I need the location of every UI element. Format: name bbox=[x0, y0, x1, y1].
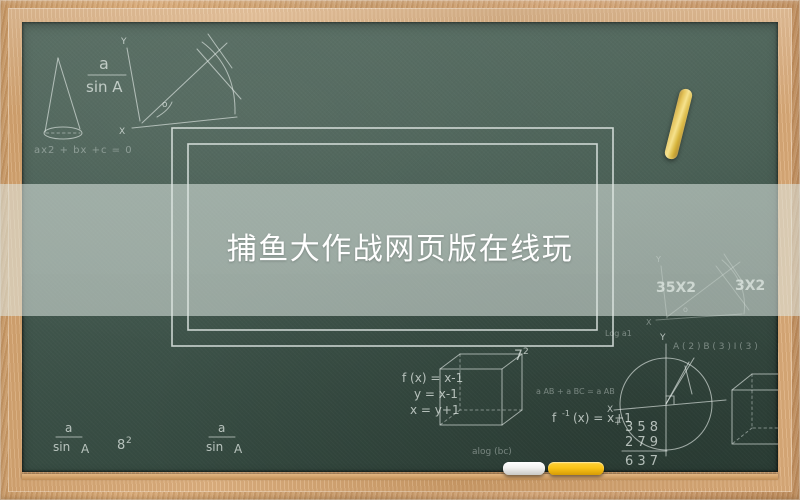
svg-text:A: A bbox=[234, 442, 243, 456]
fraction-a-over-sinA-lower-mid: a sin A bbox=[206, 421, 243, 456]
exponent-eight-sup: 2 bbox=[126, 436, 132, 446]
svg-text:a: a bbox=[218, 421, 225, 435]
log-a1-text: Log a1 bbox=[605, 329, 632, 338]
svg-text:Y: Y bbox=[120, 37, 127, 47]
svg-text:X: X bbox=[119, 127, 125, 137]
svg-text:a: a bbox=[99, 54, 109, 73]
svg-text:sin: sin bbox=[206, 440, 223, 454]
svg-text:o: o bbox=[162, 100, 168, 110]
inverse-function-text: f bbox=[552, 411, 557, 425]
svg-text:+: + bbox=[614, 418, 622, 428]
addition-column: 3 5 8 2 7 9 6 3 7 + bbox=[614, 418, 667, 469]
chalk-tray-ledge bbox=[22, 474, 778, 480]
fraction-a-over-sinA-top: a sin A bbox=[86, 54, 126, 96]
title-banner: 捕鱼大作战网页版在线玩 bbox=[0, 184, 800, 316]
angle-diagram-top: Y X o bbox=[119, 34, 241, 137]
svg-text:a: a bbox=[65, 421, 72, 435]
cone-drawing bbox=[44, 58, 82, 139]
screenshot-stage: a sin A Y X o ax2 + bx +c = 0 bbox=[0, 0, 800, 500]
svg-text:X: X bbox=[646, 318, 652, 327]
fraction-a-over-sinA-lower-left: a sin A bbox=[53, 421, 90, 456]
vector-sum-faint: a AB + a BC = a AB bbox=[536, 387, 615, 396]
svg-text:y = x-1: y = x-1 bbox=[414, 387, 458, 401]
svg-text:sin: sin bbox=[53, 440, 70, 454]
exponent-seven-sup: 2 bbox=[523, 347, 529, 357]
svg-text:Y: Y bbox=[659, 333, 666, 343]
board-eraser bbox=[503, 462, 545, 475]
svg-text:f (x) = x-1: f (x) = x-1 bbox=[402, 371, 463, 385]
cube-drawing-right bbox=[732, 374, 778, 444]
svg-text:sin A: sin A bbox=[86, 78, 123, 96]
svg-text:x = y+1: x = y+1 bbox=[410, 403, 460, 417]
matrix-row-text: A ( 2 ) B ( 3 ) I ( 3 ) bbox=[673, 342, 758, 352]
page-title: 捕鱼大作战网页版在线玩 bbox=[227, 235, 574, 265]
svg-text:6 3 7: 6 3 7 bbox=[625, 454, 658, 469]
quadratic-equation-text: ax2 + bx +c = 0 bbox=[34, 145, 133, 156]
log-expression-text: alog (bc) bbox=[472, 447, 512, 457]
exponent-eight-squared: 8 bbox=[117, 438, 125, 453]
svg-text:X: X bbox=[607, 405, 613, 415]
yellow-chalk-block bbox=[548, 462, 604, 475]
function-equations: f (x) = x-1 y = x-1 x = y+1 bbox=[402, 371, 463, 417]
svg-text:A: A bbox=[81, 442, 90, 456]
svg-text:(x) = x+1: (x) = x+1 bbox=[573, 411, 632, 425]
exponent-seven-squared: 7 bbox=[514, 348, 523, 364]
svg-text:-1: -1 bbox=[562, 409, 570, 418]
